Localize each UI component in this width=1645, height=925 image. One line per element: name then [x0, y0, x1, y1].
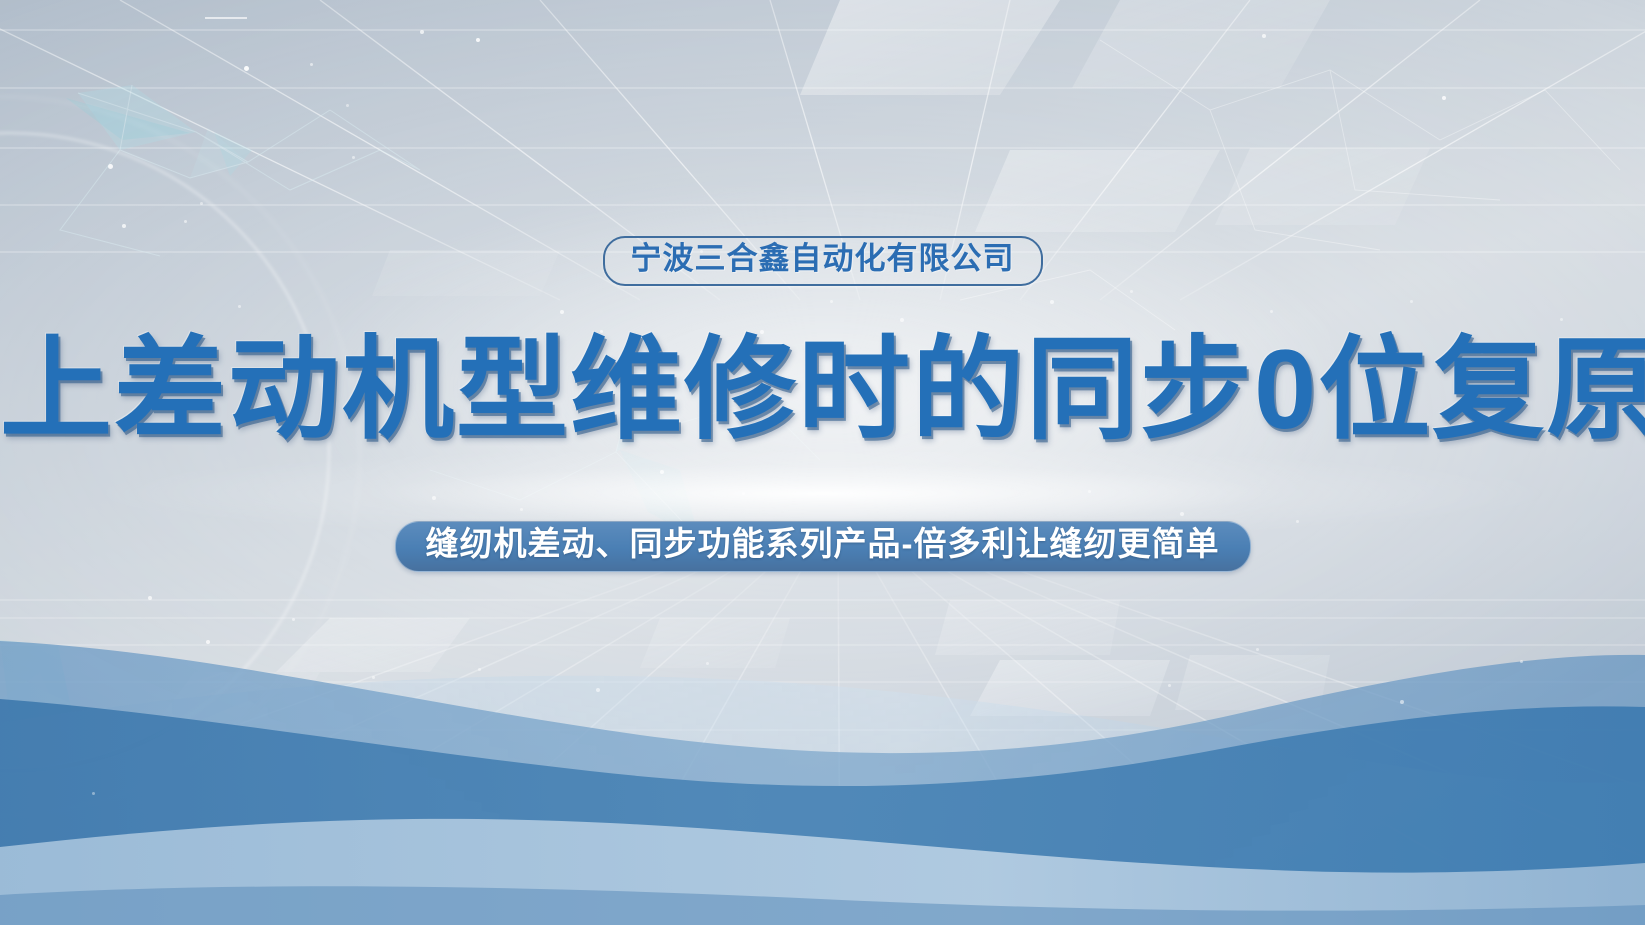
subtitle-text: 缝纫机差动、同步功能系列产品-倍多利让缝纫更简单 [426, 526, 1220, 563]
company-name-text: 宁波三合鑫自动化有限公司 [631, 243, 1015, 276]
title-slide: 宁波三合鑫自动化有限公司 上差动机型维修时的同步0位复原 缝纫机差动、同步功能系… [0, 0, 1645, 925]
subtitle-badge: 缝纫机差动、同步功能系列产品-倍多利让缝纫更简单 [395, 521, 1251, 572]
company-name-badge: 宁波三合鑫自动化有限公司 [603, 236, 1043, 286]
page-title: 上差动机型维修时的同步0位复原 [0, 330, 1645, 451]
